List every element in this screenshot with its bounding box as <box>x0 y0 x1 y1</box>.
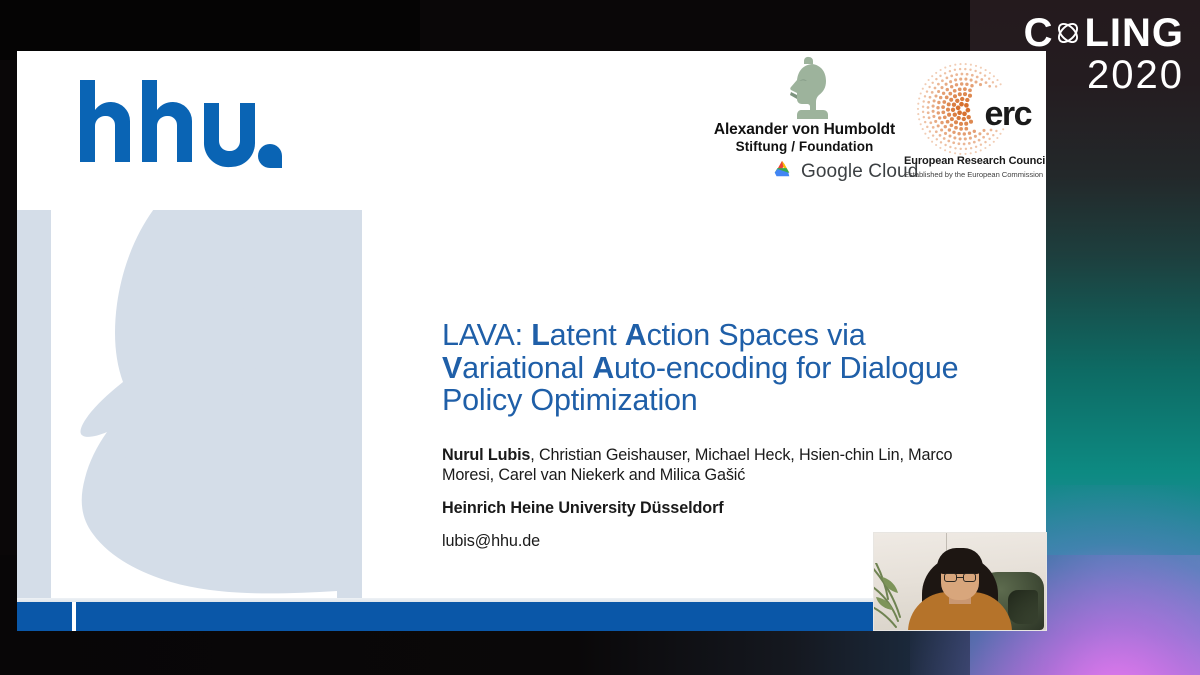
first-author: Nurul Lubis <box>442 446 530 464</box>
humboldt-bust-icon <box>702 53 907 119</box>
title-line1-t1: atent <box>550 318 625 352</box>
erc-wordmark: erc <box>984 97 1031 131</box>
title-line2-b2: A <box>592 351 614 385</box>
presenter-video-thumbnail[interactable] <box>873 532 1047 631</box>
erc-dots-icon: erc <box>911 59 1033 159</box>
humboldt-line2: Stiftung / Foundation <box>702 139 907 154</box>
heinrich-heine-portrait-watermark <box>17 210 362 602</box>
author-list: Nurul Lubis, Christian Geishauser, Micha… <box>442 445 1002 486</box>
title-line2-b1: V <box>442 351 462 385</box>
title-line1-pre: LAVA: <box>442 318 531 352</box>
sponsor-logos: Alexander von Humboldt Stiftung / Founda… <box>682 53 1046 210</box>
page-title: LAVA: Latent Action Spaces via Variation… <box>442 319 1002 417</box>
glasses-icon <box>944 573 976 582</box>
affiliation: Heinrich Heine University Düsseldorf <box>442 499 1002 518</box>
coling-year: 2020 <box>1024 56 1184 94</box>
humboldt-line1: Alexander von Humboldt <box>702 121 907 139</box>
google-cloud-icon <box>770 159 794 184</box>
slide-header: Alexander von Humboldt Stiftung / Founda… <box>17 51 1046 210</box>
coling-name-suffix: LING <box>1084 14 1184 52</box>
title-line1-b1: L <box>531 318 549 352</box>
hhu-wordmark-logo <box>74 78 304 170</box>
erc-line2: Established by the European Commission <box>904 170 1040 179</box>
title-line1-b2: A <box>625 318 647 352</box>
google-cloud-logo: Google Cloud <box>770 159 918 184</box>
erc-logo: erc European Research Council Establishe… <box>904 59 1040 179</box>
humboldt-foundation-logo: Alexander von Humboldt Stiftung / Founda… <box>702 53 907 154</box>
google-cloud-label: Google Cloud <box>801 161 918 183</box>
title-line1-t2: ction Spaces via <box>647 318 866 352</box>
presenter-hair-top <box>937 548 983 574</box>
slide-title-block: LAVA: Latent Action Spaces via Variation… <box>442 319 1002 551</box>
title-line2-t2: uto-encoding for <box>614 351 831 385</box>
coling-conference-logo: C LING 2020 <box>1024 14 1184 95</box>
coling-atom-icon <box>1053 18 1083 48</box>
title-line2-t1: ariational <box>462 351 592 385</box>
footer-tick-divider <box>72 602 76 631</box>
presenter-figure <box>901 554 1019 631</box>
coling-name-prefix: C <box>1024 14 1054 52</box>
